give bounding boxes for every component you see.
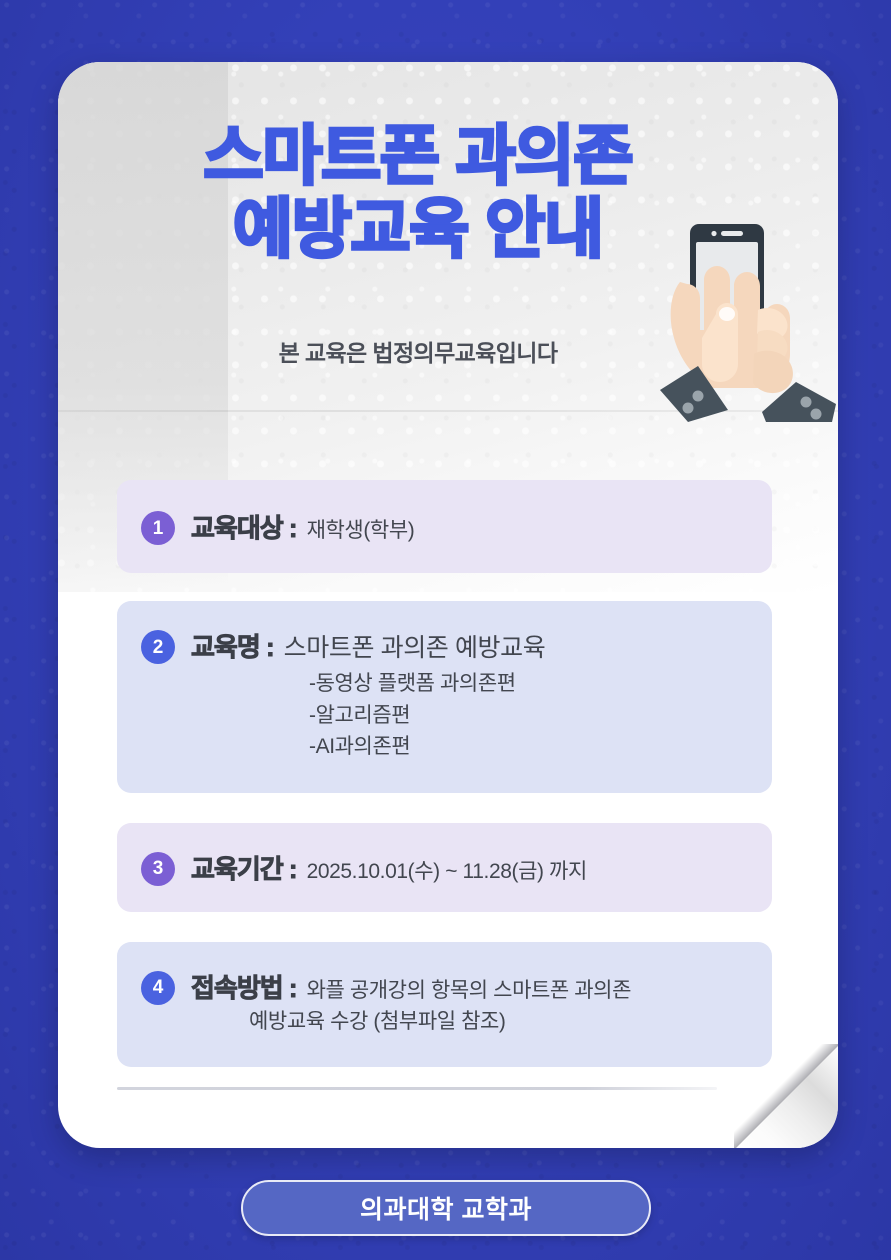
card-number-badge: 1 — [141, 511, 175, 545]
card-value-line-2: 예방교육 수강 (첨부파일 참조) — [191, 1007, 746, 1037]
title-line-2: 예방교육 안내 — [98, 193, 738, 266]
info-card-education-target: 1 교육대상 : 재학생(학부) — [117, 480, 772, 573]
card-sub-list: -동영상 플랫폼 과의존편 -알고리즘편 -AI과의존편 — [191, 668, 746, 763]
footer-label: 의과대학 교학과 — [360, 1190, 532, 1226]
card-value: 스마트폰 과의존 예방교육 — [284, 628, 546, 664]
page-subtitle: 본 교육은 법정의무교육입니다 — [98, 334, 738, 368]
bottom-divider — [117, 1087, 717, 1090]
card-value: 재학생(학부) — [307, 514, 415, 544]
poster-paper-card: 스마트폰 과의존 예방교육 안내 본 교육은 법정의무교육입니다 — [58, 62, 838, 1148]
card-label: 접속방법 : — [191, 968, 297, 1005]
info-card-education-name: 2 교육명 : 스마트폰 과의존 예방교육 -동영상 플랫폼 과의존편 -알고리… — [117, 601, 772, 793]
card-number-badge: 4 — [141, 971, 175, 1005]
card-label: 교육대상 : — [191, 508, 297, 545]
list-item: -동영상 플랫폼 과의존편 — [309, 668, 746, 700]
footer-department-badge: 의과대학 교학과 — [241, 1180, 651, 1236]
card-value: 와플 공개강의 항목의 스마트폰 과의존 — [307, 974, 631, 1004]
list-item: -알고리즘편 — [309, 700, 746, 732]
info-card-access-method: 4 접속방법 : 와플 공개강의 항목의 스마트폰 과의존 예방교육 수강 (첨… — [117, 942, 772, 1067]
hand-holding-smartphone-icon — [654, 214, 838, 422]
page-title: 스마트폰 과의존 예방교육 안내 — [98, 120, 738, 266]
title-line-1: 스마트폰 과의존 — [98, 120, 738, 193]
card-number-badge: 3 — [141, 852, 175, 886]
card-number-badge: 2 — [141, 630, 175, 664]
poster-header: 스마트폰 과의존 예방교육 안내 본 교육은 법정의무교육입니다 — [58, 62, 838, 410]
card-value: 2025.10.01(수) ~ 11.28(금) 까지 — [307, 855, 587, 885]
info-card-list: 1 교육대상 : 재학생(학부) 2 교육명 : 스마트폰 과의존 예방교육 — [117, 480, 772, 1067]
card-label: 교육기간 : — [191, 849, 297, 886]
info-card-education-period: 3 교육기간 : 2025.10.01(수) ~ 11.28(금) 까지 — [117, 823, 772, 912]
list-item: -AI과의존편 — [309, 731, 746, 763]
card-label: 교육명 : — [191, 627, 274, 664]
poster-background: 스마트폰 과의존 예방교육 안내 본 교육은 법정의무교육입니다 — [0, 0, 891, 1260]
